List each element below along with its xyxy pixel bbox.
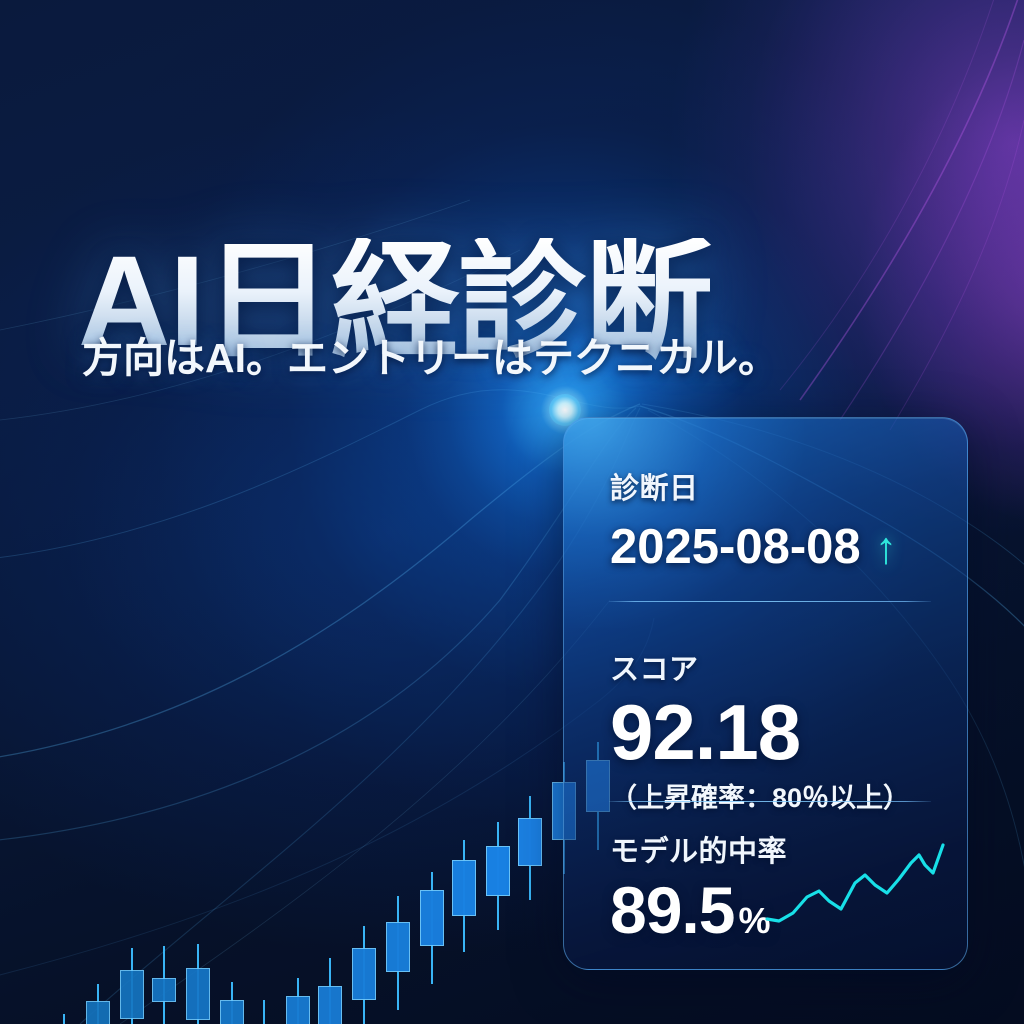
candle-11	[386, 896, 410, 1010]
diagnosis-date-label: 診断日	[610, 465, 897, 507]
candle-wick	[63, 1014, 65, 1024]
candle-3	[120, 948, 144, 1024]
candle-15	[518, 796, 542, 900]
candle-13	[452, 840, 476, 952]
candle-body	[318, 986, 342, 1024]
promo-graphic: AI日経診断 方向はAI。エントリーはテクニカル。 診断日 2025-08-08…	[0, 0, 1024, 1024]
score-label: スコア	[610, 646, 910, 688]
candle-body	[518, 818, 542, 866]
accuracy-section: モデル的中率 89.5 %	[610, 828, 787, 947]
score-value: 92.18	[610, 692, 910, 774]
candle-body	[120, 970, 144, 1019]
trend-up-icon: ↑	[875, 525, 898, 570]
diagnosis-date-section: 診断日 2025-08-08 ↑	[610, 465, 897, 575]
candle-14	[486, 822, 510, 930]
candle-4	[152, 946, 176, 1024]
score-section: スコア 92.18 （上昇確率：80％以上）	[610, 646, 910, 815]
accuracy-sparkline	[763, 835, 949, 927]
diagnosis-date-value: 2025-08-08	[610, 519, 861, 575]
candle-body	[220, 1000, 244, 1024]
candle-7	[252, 1000, 276, 1024]
candle-body	[386, 922, 410, 972]
candle-body	[452, 860, 476, 916]
card-divider-bottom	[609, 801, 931, 802]
candle-9	[318, 958, 342, 1024]
candle-body	[186, 968, 210, 1020]
candle-wick	[263, 1000, 265, 1024]
accuracy-value: 89.5	[610, 874, 734, 947]
candle-body	[86, 1001, 110, 1024]
candle-2	[86, 984, 110, 1024]
score-note: （上昇確率：80％以上）	[610, 776, 910, 815]
diagnosis-card: 診断日 2025-08-08 ↑ スコア 92.18 （上昇確率：80％以上） …	[563, 417, 968, 970]
candle-8	[286, 978, 310, 1024]
candle-body	[420, 890, 444, 946]
candle-body	[152, 978, 176, 1002]
card-divider-top	[609, 601, 931, 602]
page-subtitle: 方向はAI。エントリーはテクニカル。	[82, 338, 779, 379]
candle-body	[286, 996, 310, 1024]
candle-body	[352, 948, 376, 1000]
accuracy-value-row: 89.5 %	[610, 874, 787, 947]
candle-10	[352, 926, 376, 1024]
candle-5	[186, 944, 210, 1024]
candle-body	[486, 846, 510, 896]
accuracy-label: モデル的中率	[610, 828, 787, 870]
candle-6	[220, 982, 244, 1024]
candle-12	[420, 872, 444, 984]
candle-1	[52, 1014, 76, 1024]
diagnosis-date-value-row: 2025-08-08 ↑	[610, 519, 897, 575]
